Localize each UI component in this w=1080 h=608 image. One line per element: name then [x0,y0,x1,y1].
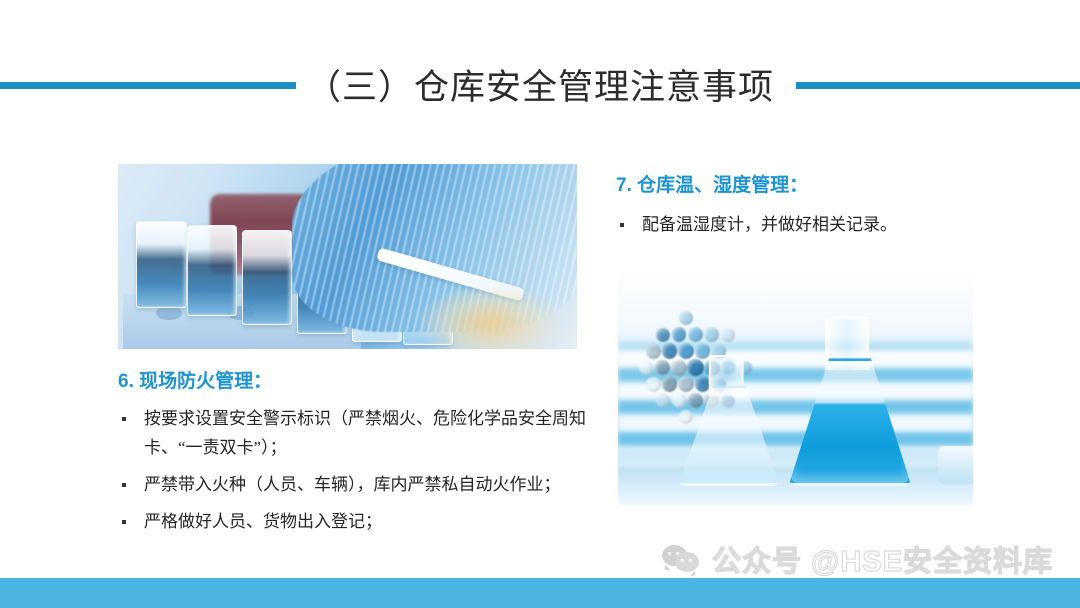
molecule-atom [655,360,670,375]
left-section-heading: 6. 现场防火管理： [118,366,272,393]
bubble-dot [689,559,692,562]
flask-body [678,385,780,486]
sample-vial [187,225,237,316]
list-item: 按要求设置安全警示标识（严禁烟火、危险化学品安全周知卡、“一责双卡”）； [118,404,588,462]
list-item: 配备温湿度计，并做好相关记录。 [616,210,1016,239]
molecule-atom [656,328,670,342]
molecule-atom [656,394,670,408]
slide: （三）仓库安全管理注意事项 6. 现场防火管理： 按要求设置安全警示标识（严禁烟… [0,0,1080,608]
speech-bubble-small [675,552,699,572]
molecule-atom [662,343,678,359]
list-item: 严禁带入火种（人员、车辆），库内严禁私自动火作业； [118,470,588,499]
sample-vial [242,230,292,325]
molecule-atom [704,327,719,342]
molecule-atom [688,327,703,342]
molecule-atom [721,328,735,342]
molecule-atom [646,344,661,359]
molecule-atom [662,376,678,392]
molecule-atom [679,311,693,325]
footer-bar [0,578,1080,608]
page-title: （三）仓库安全管理注意事项 [0,62,1080,118]
sample-vial [136,221,186,308]
list-item: 严格做好人员、货物出入登记； [118,507,588,536]
molecule-atom [646,377,661,392]
watermark: 公众号 @HSE安全资料库 [662,538,1053,580]
flask-body-blue-liquid [788,358,911,486]
laboratory-vials-photo [118,164,577,349]
left-bullet-list: 按要求设置安全警示标识（严禁烟火、危险化学品安全周知卡、“一责双卡”）； 严禁带… [118,404,588,544]
warm-light-glow [421,286,559,349]
right-section-heading: 7. 仓库温、湿度管理： [616,170,808,197]
right-bullet-list: 配备温湿度计，并做好相关记录。 [616,210,1016,247]
side-glassware [938,446,974,484]
watermark-text: 公众号 @HSE安全资料库 [712,538,1053,580]
laboratory-flasks-photo [618,270,973,505]
bubble-dot [681,559,684,562]
wechat-logo-icon [662,543,702,575]
bubble-dot [668,552,671,555]
molecule-atom [672,327,687,342]
title-band: （三）仓库安全管理注意事项 [0,62,1080,118]
small-erlenmeyer-flask [678,355,774,487]
molecule-atom [639,361,653,375]
large-erlenmeyer-flask [788,317,905,486]
